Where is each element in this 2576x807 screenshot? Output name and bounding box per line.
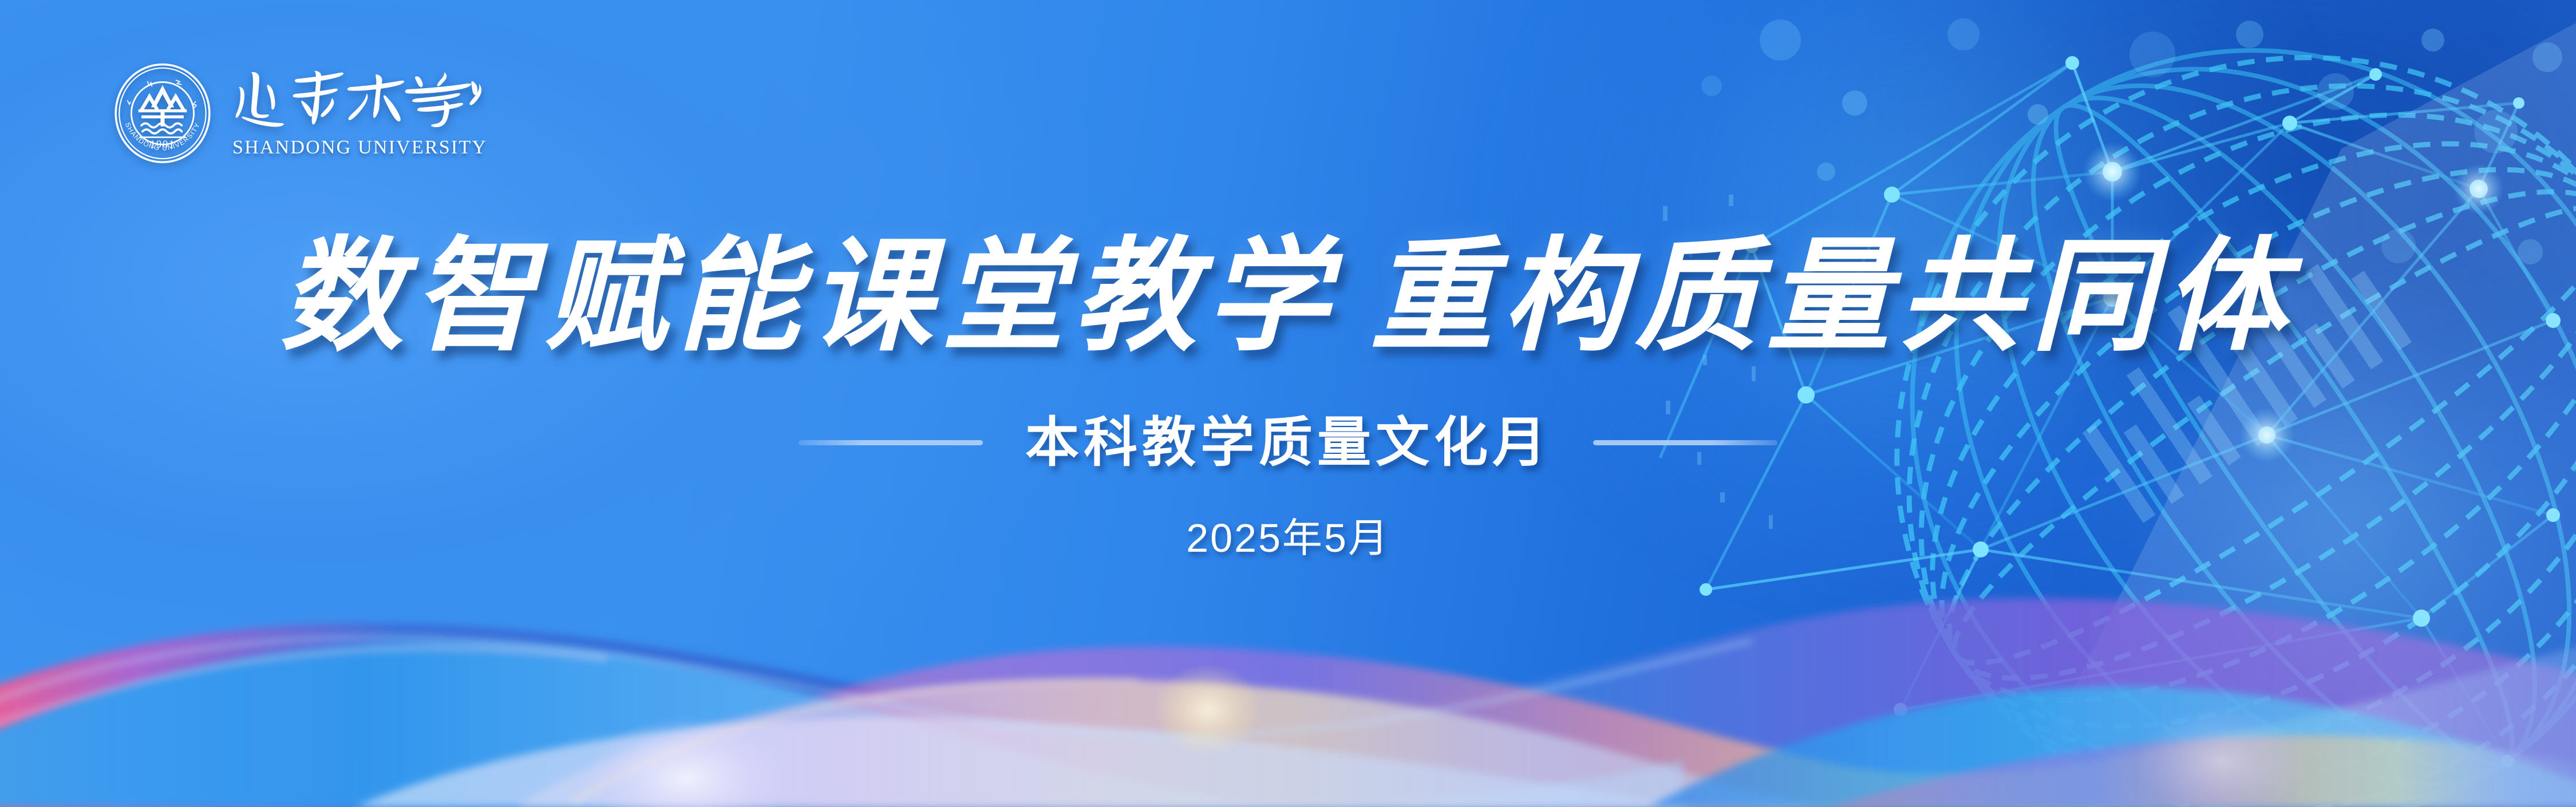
event-banner: 1901 SHANDONG UNIVERSITY: [0, 0, 2576, 807]
event-date: 2025年5月: [0, 514, 2576, 562]
subtitle-rule-right: [1593, 440, 1777, 445]
headline-part-two: 重构质量共同体: [1370, 223, 2296, 368]
page-title: 数智赋能课堂教学重构质量共同体: [0, 230, 2576, 362]
wave-hotspot-warm: [1153, 664, 1262, 755]
shandong-university-seal: 1901 SHANDONG UNIVERSITY: [112, 63, 213, 164]
subtitle-text: 本科教学质量文化月: [1025, 411, 1551, 474]
subtitle-row: 本科教学质量文化月: [0, 411, 2576, 474]
logo-wordmark-english: SHANDONG UNIVERSITY: [232, 137, 491, 159]
university-logo: 1901 SHANDONG UNIVERSITY: [112, 63, 491, 164]
headline-part-one: 数智赋能课堂教学: [280, 223, 1338, 368]
subtitle-rule-left: [799, 440, 983, 445]
logo-wordmark-chinese: [232, 68, 491, 129]
